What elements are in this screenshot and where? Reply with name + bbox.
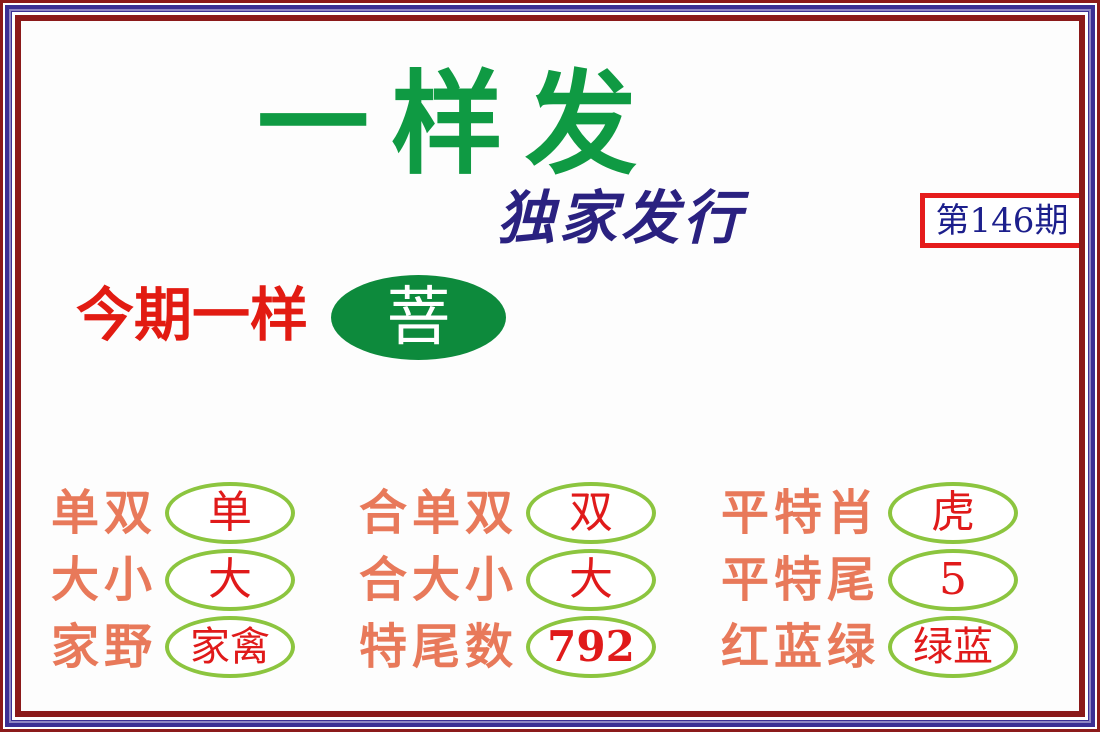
grid-cell-value-oval: 绿蓝: [888, 616, 1018, 678]
feature-value: 菩: [387, 286, 451, 350]
grid-row: 合大小 大: [359, 547, 709, 613]
poster-root: 一样发 独家发行 第146期 今期一样 菩 单双 单 大小: [0, 0, 1100, 732]
poster-canvas: 一样发 独家发行 第146期 今期一样 菩 单双 单 大小: [21, 21, 1079, 711]
grid-cell-label: 特尾数: [359, 618, 518, 676]
grid-column-middle: 合单双 双 合大小 大 特尾数 792: [359, 464, 709, 694]
grid-cell-value-oval: 双: [526, 482, 656, 544]
grid-cell-value: 虎: [931, 491, 975, 535]
grid-row: 单双 单: [51, 480, 371, 546]
grid-column-right: 平特肖 虎 平特尾 5 红蓝绿 绿蓝: [721, 464, 1066, 694]
grid-cell-value: 大: [569, 558, 613, 602]
grid-cell-label: 红蓝绿: [721, 618, 880, 676]
grid-cell-value-oval: 大: [165, 549, 295, 611]
poster-subtitle: 独家发行: [497, 187, 917, 249]
grid-cell-value-oval: 虎: [888, 482, 1018, 544]
grid-row: 平特尾 5: [721, 547, 1066, 613]
grid-row: 红蓝绿 绿蓝: [721, 614, 1066, 680]
grid-row: 特尾数 792: [359, 614, 709, 680]
prediction-grid: 单双 单 大小 大 家野 家禽: [21, 464, 1079, 694]
grid-cell-value: 双: [569, 491, 613, 535]
grid-column-left: 单双 单 大小 大 家野 家禽: [51, 464, 371, 694]
grid-row: 大小 大: [51, 547, 371, 613]
grid-cell-value-oval: 家禽: [165, 616, 295, 678]
grid-row: 家野 家禽: [51, 614, 371, 680]
feature-badge: 菩: [331, 275, 506, 360]
poster-title: 一样发: [257, 63, 897, 188]
grid-cell-value: 大: [208, 558, 252, 602]
grid-cell-value: 792: [547, 625, 635, 669]
grid-cell-label: 大小: [51, 551, 157, 609]
grid-cell-value: 5: [939, 558, 967, 602]
grid-cell-label: 平特尾: [721, 551, 880, 609]
grid-cell-value: 家禽: [190, 625, 270, 669]
grid-cell-label: 合单双: [359, 484, 518, 542]
grid-row: 平特肖 虎: [721, 480, 1066, 546]
grid-cell-label: 单双: [51, 484, 157, 542]
grid-cell-value-oval: 792: [526, 616, 656, 678]
grid-cell-label: 平特肖: [721, 484, 880, 542]
grid-cell-label: 家野: [51, 618, 157, 676]
feature-label: 今期一样: [76, 279, 308, 351]
grid-cell-label: 合大小: [359, 551, 518, 609]
grid-cell-value-oval: 单: [165, 482, 295, 544]
grid-cell-value-oval: 5: [888, 549, 1018, 611]
grid-cell-value: 单: [208, 491, 252, 535]
grid-cell-value: 绿蓝: [913, 625, 993, 669]
issue-number-box: 第146期: [920, 193, 1079, 248]
grid-row: 合单双 双: [359, 480, 709, 546]
grid-cell-value-oval: 大: [526, 549, 656, 611]
issue-number-label: 第146期: [936, 204, 1069, 238]
